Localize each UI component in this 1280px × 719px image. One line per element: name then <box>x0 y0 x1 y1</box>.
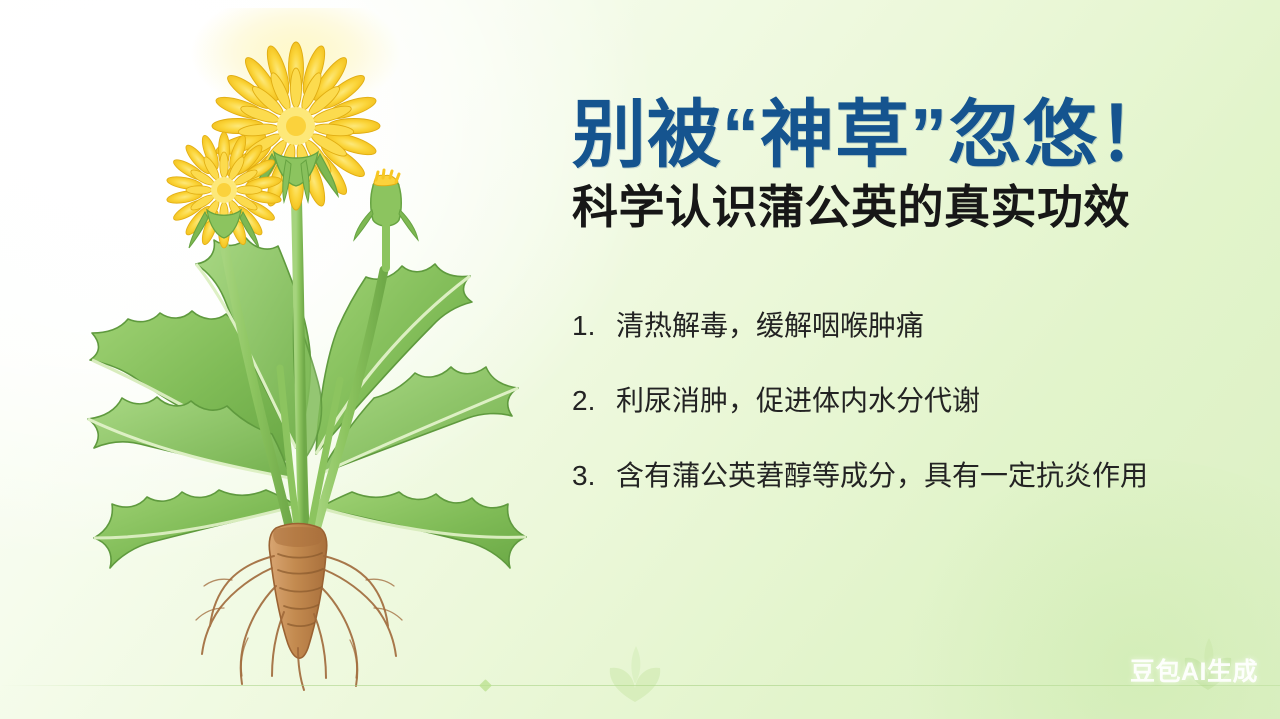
taproot <box>196 524 402 691</box>
text-content: 别被“神草”忽悠！ 科学认识蒲公英的真实功效 1. 清热解毒，缓解咽喉肿痛 2.… <box>572 96 1232 493</box>
list-item-number: 2. <box>572 383 616 418</box>
page-subtitle: 科学认识蒲公英的真实功效 <box>572 182 1232 234</box>
slide-canvas: 别被“神草”忽悠！ 科学认识蒲公英的真实功效 1. 清热解毒，缓解咽喉肿痛 2.… <box>0 0 1280 719</box>
dandelion-plant-illustration <box>28 8 548 708</box>
list-item-text: 清热解毒，缓解咽喉肿痛 <box>616 308 1232 343</box>
list-item: 2. 利尿消肿，促进体内水分代谢 <box>572 383 1232 418</box>
list-item-number: 3. <box>572 458 616 493</box>
list-item: 3. 含有蒲公英莙醇等成分，具有一定抗炎作用 <box>572 458 1232 493</box>
dandelion-bud <box>354 170 418 268</box>
ai-watermark: 豆包AI生成 <box>1130 652 1258 688</box>
decorative-leaf-icon <box>600 640 670 706</box>
benefits-list: 1. 清热解毒，缓解咽喉肿痛 2. 利尿消肿，促进体内水分代谢 3. 含有蒲公英… <box>572 308 1232 493</box>
list-item-text: 利尿消肿，促进体内水分代谢 <box>616 383 1232 418</box>
list-item: 1. 清热解毒，缓解咽喉肿痛 <box>572 308 1232 343</box>
list-item-number: 1. <box>572 308 616 343</box>
page-title: 别被“神草”忽悠！ <box>572 96 1232 174</box>
list-item-text: 含有蒲公英莙醇等成分，具有一定抗炎作用 <box>616 458 1232 493</box>
